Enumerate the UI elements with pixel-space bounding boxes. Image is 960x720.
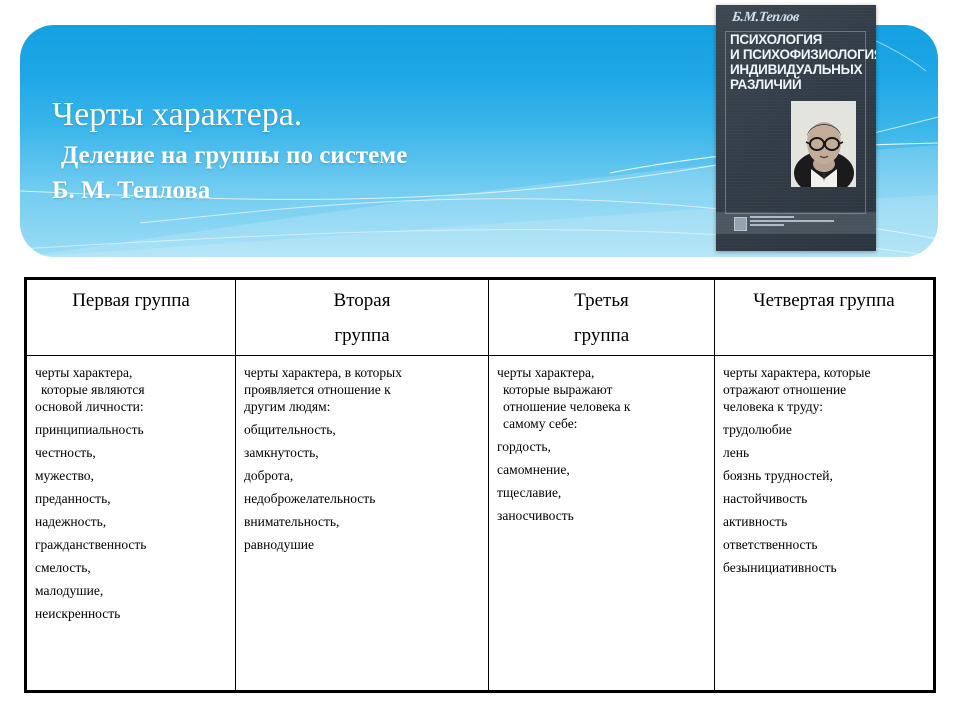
slide-header-banner: Черты характера. Деление на группы по си… [0, 0, 960, 270]
table-header-cell-group-1: Первая группа [27, 280, 236, 355]
intro-line: черты характера, [497, 364, 706, 381]
table-header-cell-group-4: Четвертая группа [715, 280, 933, 355]
table-header-row: Первая группа Вторая группа Третья групп… [27, 280, 933, 356]
trait-item: трудолюбие [723, 418, 925, 441]
trait-item: недоброжелательность [244, 487, 480, 510]
header-1-line-1: Первая группа [27, 283, 235, 318]
intro-line: человека к труду: [723, 398, 925, 415]
trait-item: безынициативность [723, 556, 925, 579]
trait-item: мужество, [35, 464, 227, 487]
trait-item: гражданственность [35, 533, 227, 556]
trait-item: самомнение, [497, 458, 706, 481]
group-4-items: трудолюбиеленьбоязнь трудностей,настойчи… [723, 418, 925, 579]
header-3-line-2: группа [489, 318, 714, 353]
trait-item: смелость, [35, 556, 227, 579]
trait-item: заносчивость [497, 504, 706, 527]
header-3-line-1: Третья [489, 283, 714, 318]
table-cell-group-1: черты характера,которые являютсяосновой … [27, 356, 236, 690]
book-cover-title: ПСИХОЛОГИЯ И ПСИХОФИЗИОЛОГИЯ ИНДИВИДУАЛЬ… [730, 32, 870, 92]
trait-item: равнодушие [244, 533, 480, 556]
table-cell-group-4: черты характера, которыеотражают отношен… [715, 356, 933, 690]
trait-item: преданность, [35, 487, 227, 510]
header-4-line-1: Четвертая группа [715, 283, 933, 318]
author-portrait-photo [791, 101, 856, 187]
slide-title: Черты характера. [52, 95, 302, 135]
character-traits-table: Первая группа Вторая группа Третья групп… [24, 277, 936, 693]
table-body-row: черты характера,которые являютсяосновой … [27, 356, 933, 690]
intro-line: которые выражают [497, 381, 706, 398]
group-4-intro: черты характера, которыеотражают отношен… [723, 364, 925, 415]
book-title-line-3: ИНДИВИДУАЛЬНЫХ [730, 62, 870, 77]
trait-item: честность, [35, 441, 227, 464]
intro-line: другим людям: [244, 398, 480, 415]
slide-subtitle-line-1: Деление на группы по системе [52, 138, 407, 173]
intro-line: черты характера, [35, 364, 227, 381]
slide-subtitle-line-2: Б. М. Теплова [52, 173, 407, 208]
trait-item: тщеславие, [497, 481, 706, 504]
publisher-logo-icon [734, 217, 747, 231]
trait-item: общительность, [244, 418, 480, 441]
book-title-line-4: РАЗЛИЧИЙ [730, 77, 870, 92]
trait-item: настойчивость [723, 487, 925, 510]
group-1-intro: черты характера,которые являютсяосновой … [35, 364, 227, 415]
publisher-text-lines [750, 216, 850, 228]
header-2-line-1: Вторая [236, 283, 488, 318]
trait-item: боязнь трудностей, [723, 464, 925, 487]
group-3-items: гордость,самомнение,тщеславие,заносчивос… [497, 435, 706, 527]
group-3-intro: черты характера,которые выражаютотношени… [497, 364, 706, 432]
trait-item: замкнутость, [244, 441, 480, 464]
table-cell-group-3: черты характера,которые выражаютотношени… [489, 356, 715, 690]
intro-line: черты характера, которые [723, 364, 925, 381]
trait-item: гордость, [497, 435, 706, 458]
table-header-cell-group-3: Третья группа [489, 280, 715, 355]
slide-subtitle: Деление на группы по системе Б. М. Тепло… [52, 138, 407, 208]
book-author-signature: Б.М.Теплов [731, 10, 800, 26]
book-title-line-1: ПСИХОЛОГИЯ [730, 32, 870, 47]
trait-item: малодушие, [35, 579, 227, 602]
group-1-items: принципиальностьчестность,мужество,преда… [35, 418, 227, 625]
intro-line: которые являются [35, 381, 227, 398]
trait-item: доброта, [244, 464, 480, 487]
trait-item: лень [723, 441, 925, 464]
table-cell-group-2: черты характера, в которыхпроявляется от… [236, 356, 489, 690]
trait-item: внимательность, [244, 510, 480, 533]
intro-line: основой личности: [35, 398, 227, 415]
group-2-items: общительность,замкнутость,доброта,недобр… [244, 418, 480, 556]
trait-item: принципиальность [35, 418, 227, 441]
intro-line: самому себе: [497, 415, 706, 432]
intro-line: проявляется отношение к [244, 381, 480, 398]
portrait-illustration [791, 101, 856, 187]
trait-item: активность [723, 510, 925, 533]
book-cover-image: Б.М.Теплов ПСИХОЛОГИЯ И ПСИХОФИЗИОЛОГИЯ … [716, 5, 876, 251]
intro-line: отражают отношение [723, 381, 925, 398]
book-publisher-band [716, 212, 876, 234]
trait-item: ответственность [723, 533, 925, 556]
group-2-intro: черты характера, в которыхпроявляется от… [244, 364, 480, 415]
intro-line: черты характера, в которых [244, 364, 480, 381]
trait-item: неискренность [35, 602, 227, 625]
header-2-line-2: группа [236, 318, 488, 353]
book-title-line-2: И ПСИХОФИЗИОЛОГИЯ [730, 47, 870, 62]
trait-item: надежность, [35, 510, 227, 533]
intro-line: отношение человека к [497, 398, 706, 415]
table-header-cell-group-2: Вторая группа [236, 280, 489, 355]
